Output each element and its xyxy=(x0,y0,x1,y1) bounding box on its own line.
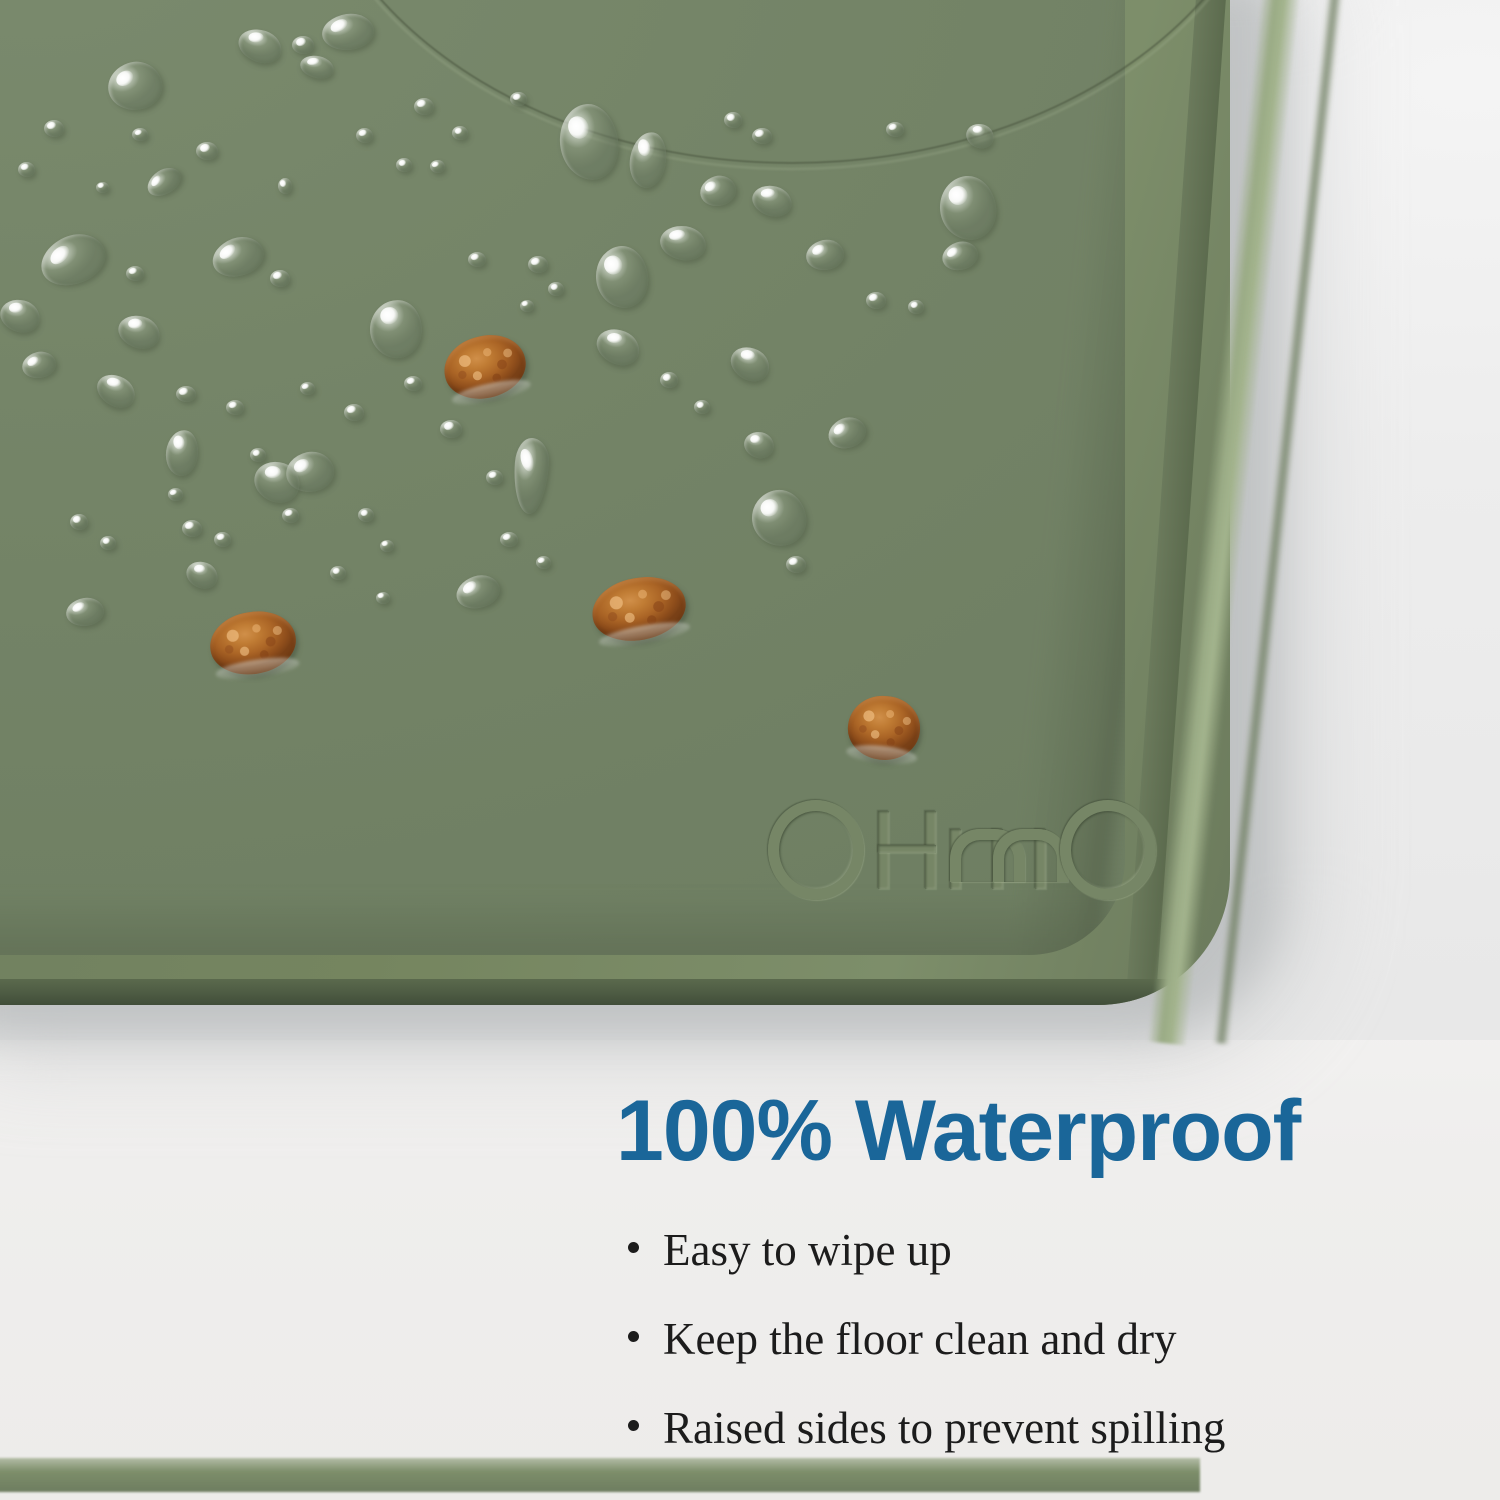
logo-letter-h xyxy=(878,811,936,889)
water-droplet xyxy=(282,508,299,523)
water-droplet xyxy=(44,120,64,137)
water-droplet xyxy=(380,540,394,552)
water-droplet xyxy=(452,126,468,140)
water-droplet xyxy=(660,372,678,388)
water-droplet xyxy=(724,112,742,128)
water-droplet xyxy=(300,382,315,395)
bullet-dot-icon xyxy=(628,1242,639,1253)
water-droplet xyxy=(330,566,346,580)
logo-letter-o-second xyxy=(1060,800,1156,900)
water-droplet xyxy=(356,128,373,143)
list-item: Easy to wipe up xyxy=(628,1228,1225,1273)
logo-letter-o-first xyxy=(768,800,864,900)
water-droplet xyxy=(786,556,806,573)
water-droplet xyxy=(510,92,527,106)
water-droplet xyxy=(196,142,218,160)
mat-bottom-edge xyxy=(0,979,1230,1005)
water-droplet xyxy=(430,160,445,173)
water-droplet xyxy=(694,400,710,414)
water-droplet xyxy=(226,400,244,415)
water-droplet xyxy=(214,532,231,547)
bullet-text: Easy to wipe up xyxy=(663,1228,952,1273)
water-droplet xyxy=(132,128,148,141)
feature-bullet-list: Easy to wipe up Keep the floor clean and… xyxy=(628,1228,1225,1495)
list-item: Keep the floor clean and dry xyxy=(628,1317,1225,1362)
bullet-dot-icon xyxy=(628,1420,639,1431)
bullet-text: Raised sides to prevent spilling xyxy=(663,1406,1225,1451)
water-droplet xyxy=(376,592,390,604)
water-droplet xyxy=(126,266,144,281)
water-droplet xyxy=(752,128,772,144)
bullet-text: Keep the floor clean and dry xyxy=(663,1317,1177,1362)
water-droplet xyxy=(70,514,88,530)
water-droplet xyxy=(344,404,364,421)
mat-inner-bevel-bottom xyxy=(0,895,1125,955)
water-droplet xyxy=(886,122,904,137)
water-droplet xyxy=(96,182,109,193)
water-droplet xyxy=(292,36,314,54)
water-droplet xyxy=(528,256,548,273)
water-droplet xyxy=(486,470,503,485)
list-item: Raised sides to prevent spilling xyxy=(628,1406,1225,1451)
water-droplet xyxy=(536,556,551,569)
water-droplet xyxy=(358,508,374,522)
water-droplet xyxy=(414,98,434,115)
water-droplet xyxy=(100,536,116,550)
logo-letter-m xyxy=(950,811,1046,889)
water-droplet xyxy=(396,158,412,172)
water-droplet xyxy=(866,292,886,309)
water-droplet xyxy=(168,488,183,501)
water-droplet xyxy=(520,300,534,312)
water-droplet xyxy=(548,282,564,296)
water-droplet xyxy=(468,252,486,267)
embossed-brand-logo xyxy=(768,800,1156,900)
water-droplet xyxy=(500,532,518,547)
water-droplet xyxy=(270,270,290,287)
water-droplet xyxy=(18,162,35,177)
water-droplet xyxy=(404,376,422,391)
water-droplet xyxy=(250,448,266,462)
water-droplet xyxy=(182,520,202,537)
water-droplet xyxy=(278,178,292,194)
bullet-dot-icon xyxy=(628,1331,639,1342)
water-droplet xyxy=(176,386,196,402)
product-feature-image: 100% Waterproof Easy to wipe up Keep the… xyxy=(0,0,1500,1500)
page-title: 100% Waterproof xyxy=(616,1088,1300,1174)
water-droplet xyxy=(440,420,462,438)
water-droplet xyxy=(908,300,924,314)
